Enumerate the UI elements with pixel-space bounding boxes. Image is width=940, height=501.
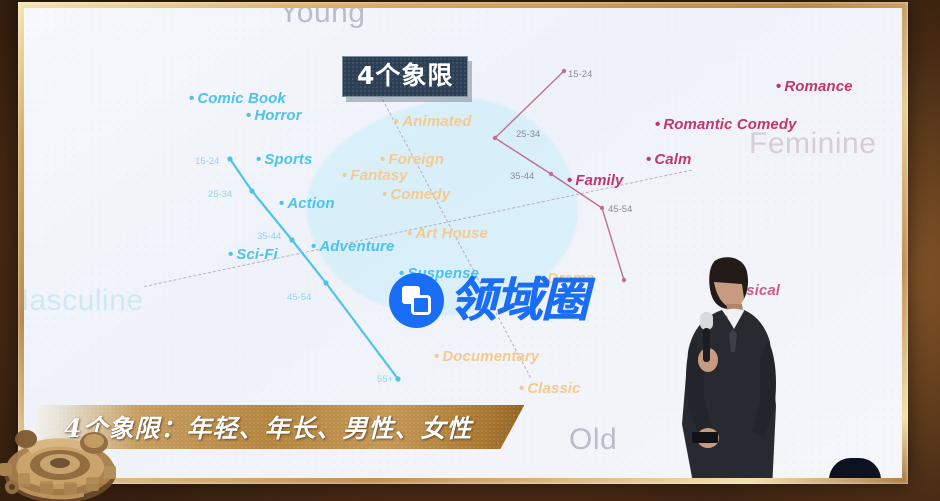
genre-dot-icon: • <box>519 380 524 397</box>
genre-label: •Comic Book <box>189 90 286 107</box>
genre-label-text: Sports <box>264 151 312 168</box>
genre-label-text: Horror <box>254 107 301 124</box>
genre-label: •Fantasy <box>342 167 408 184</box>
trend-marker <box>395 376 400 381</box>
genre-dot-icon: • <box>776 78 781 95</box>
trend-marker <box>323 280 328 285</box>
age-tick-label: 45-54 <box>287 292 311 303</box>
genre-label: •Horror <box>246 107 302 124</box>
watermark: 领域圈 <box>389 273 587 328</box>
genre-label-text: Comic Book <box>197 90 286 107</box>
genre-dot-icon: • <box>646 151 651 168</box>
genre-dot-icon: • <box>567 172 572 189</box>
age-tick-label: 25-34 <box>516 129 540 140</box>
genre-dot-icon: • <box>189 90 194 107</box>
genre-dot-icon: • <box>655 116 660 133</box>
presenter-figure <box>664 256 799 478</box>
genre-label: •Romance <box>776 78 853 95</box>
genre-label-text: Fantasy <box>350 167 407 184</box>
watermark-text: 领域圈 <box>449 277 587 324</box>
age-tick-label: 35-44 <box>510 171 534 182</box>
genre-dot-icon: • <box>382 186 387 203</box>
age-tick-label: 15-24 <box>195 156 219 167</box>
genre-dot-icon: • <box>380 151 385 168</box>
genre-label-text: Animated <box>402 113 471 130</box>
genre-dot-icon: • <box>342 167 347 184</box>
genre-label: •Foreign <box>380 151 444 168</box>
genre-label: •Sci-Fi <box>228 246 278 263</box>
trend-marker <box>622 278 626 282</box>
trend-marker <box>600 206 604 210</box>
genre-label: •Sports <box>256 151 312 168</box>
genre-label: •Action <box>279 195 335 212</box>
overlapping-squares-logo-icon <box>389 273 444 328</box>
genre-label-text: Classic <box>527 380 580 397</box>
genre-label: •Calm <box>646 151 691 168</box>
genre-label-text: Comedy <box>390 186 450 203</box>
genre-label-text: Action <box>287 195 334 212</box>
genre-label-text: Foreign <box>388 151 444 168</box>
genre-dot-icon: • <box>407 225 412 242</box>
age-tick-label: 15-24 <box>568 69 592 80</box>
genre-label: •Romantic Comedy <box>655 116 797 133</box>
genre-dot-icon: • <box>394 113 399 130</box>
axis-label-young: Young <box>279 8 366 30</box>
gear-ornament-icon <box>0 411 141 501</box>
callout-box: 4个象限 <box>342 56 468 97</box>
logo-square-front <box>411 295 431 315</box>
age-tick-label: 45-54 <box>608 204 632 215</box>
genre-dot-icon: • <box>279 195 284 212</box>
genre-label-text: Romantic Comedy <box>663 116 796 133</box>
genre-label: •Documentary <box>434 348 539 365</box>
genre-dot-icon: • <box>246 107 251 124</box>
genre-label: •Family <box>567 172 623 189</box>
genre-dot-icon: • <box>434 348 439 365</box>
genre-label: •Animated <box>394 113 472 130</box>
trend-marker <box>227 156 232 161</box>
age-tick-label: 25-34 <box>208 189 232 200</box>
genre-label-text: Romance <box>784 78 852 95</box>
genre-label-text: Calm <box>654 151 691 168</box>
trend-marker <box>289 237 294 242</box>
genre-label: •Art House <box>407 225 488 242</box>
genre-label-text: Art House <box>415 225 488 242</box>
audience-head-silhouette <box>829 458 881 478</box>
genre-dot-icon: • <box>228 246 233 263</box>
axis-label-masculine: Masculine <box>24 284 144 318</box>
genre-label-text: Family <box>575 172 623 189</box>
age-tick-label: 55+ <box>377 374 393 385</box>
genre-label: •Classic <box>519 380 581 397</box>
age-tick-label: 35-44 <box>257 231 281 242</box>
genre-label-text: Sci-Fi <box>236 246 277 263</box>
genre-label: •Adventure <box>311 238 394 255</box>
genre-label-text: Documentary <box>442 348 539 365</box>
studio-stage: Young Old Masculine Feminine •Comic Book… <box>0 0 940 501</box>
genre-label-text: Adventure <box>319 238 394 255</box>
axis-label-old: Old <box>569 423 617 457</box>
genre-dot-icon: • <box>311 238 316 255</box>
trend-marker <box>249 188 254 193</box>
trend-marker <box>562 69 566 73</box>
genre-dot-icon: • <box>256 151 261 168</box>
genre-label: •Comedy <box>382 186 450 203</box>
